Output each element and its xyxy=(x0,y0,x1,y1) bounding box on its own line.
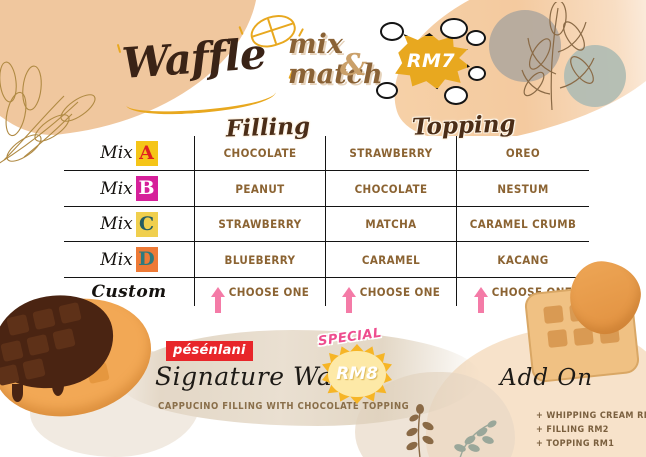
filling-cell: STRAWBERRY xyxy=(195,206,326,242)
sprig-decoration-icon xyxy=(398,402,508,457)
addon-list: + WHIPPING CREAM RM2 + FILLING RM2 + TOP… xyxy=(496,411,646,453)
topping-column-header: Topping xyxy=(412,110,516,141)
puff-cloud-icon xyxy=(440,18,468,39)
up-arrow-icon xyxy=(474,287,488,297)
brand-title: Waffle xyxy=(120,29,267,88)
custom-topping-cell-1[interactable]: CHOOSE ONE xyxy=(326,277,457,306)
table-row[interactable]: Mix C STRAWBERRY MATCHA CARAMEL CRUMB xyxy=(64,206,589,242)
chocolate-drip xyxy=(12,384,23,402)
topping-cell-1: STRAWBERRY xyxy=(326,136,457,171)
puff-cloud-icon xyxy=(380,22,404,41)
mix-label: Mix xyxy=(100,214,132,234)
waffle-menu-poster: Waffle mix match & RM7 Mix A xyxy=(0,0,646,457)
brand-tag: pésénlani xyxy=(166,341,253,361)
caramel-waffle-illustration xyxy=(522,258,642,380)
waffle-pocket xyxy=(543,305,564,324)
puff-cloud-icon xyxy=(468,66,486,81)
ampersand-symbol: & xyxy=(340,48,367,83)
table-row[interactable]: Mix D BLUEBERRY CARAMEL KACANG xyxy=(64,242,589,278)
topping-cell-1: CARAMEL xyxy=(326,242,457,278)
choose-one-label: CHOOSE ONE xyxy=(229,285,309,299)
mix-label: Mix xyxy=(100,179,132,199)
mix-badge-d: D xyxy=(136,247,158,272)
waffle-pocket xyxy=(547,329,568,348)
topping-cell-2: NESTUM xyxy=(457,171,590,207)
price-burst-badge: RM7 xyxy=(392,33,470,91)
up-arrow-icon xyxy=(342,287,356,297)
addon-title: Add On xyxy=(500,365,593,391)
puff-cloud-icon xyxy=(444,86,468,105)
chocolate-drip xyxy=(52,374,64,396)
up-arrow-icon xyxy=(211,287,225,297)
topping-cell-1: CHOCOLATE xyxy=(326,171,457,207)
row-label-cell: Mix D xyxy=(64,242,195,278)
chocolate-drip xyxy=(88,340,101,366)
row-label-cell: Mix C xyxy=(64,206,195,242)
chocolate-waffle-illustration xyxy=(0,300,152,415)
mix-match-table-wrapper: Mix A CHOCOLATE STRAWBERRY OREO Mix B PE… xyxy=(64,136,578,306)
filling-cell: BLUEBERRY xyxy=(195,242,326,278)
match-word: match xyxy=(288,59,383,90)
row-label-cell: Mix B xyxy=(64,171,195,207)
custom-filling-cell[interactable]: CHOOSE ONE xyxy=(195,277,326,306)
topping-cell-2: OREO xyxy=(457,136,590,171)
topping-cell-1: MATCHA xyxy=(326,206,457,242)
mix-word: mix xyxy=(288,29,343,60)
special-price-burst: RM8 xyxy=(322,344,392,404)
row-label-cell: Mix A xyxy=(64,136,195,171)
poster-header: Waffle mix match & RM7 xyxy=(0,0,646,120)
puff-cloud-icon xyxy=(466,30,486,46)
addon-item: + FILLING RM2 xyxy=(536,425,646,435)
mix-badge-c: C xyxy=(136,212,158,237)
table-row[interactable]: Mix A CHOCOLATE STRAWBERRY OREO xyxy=(64,136,589,171)
choose-one-label: CHOOSE ONE xyxy=(360,285,440,299)
mix-label: Mix xyxy=(100,143,132,163)
topping-cell-2: CARAMEL CRUMB xyxy=(457,206,590,242)
addon-item: + WHIPPING CREAM RM2 xyxy=(536,411,646,421)
custom-label: Custom xyxy=(91,282,166,302)
mix-badge-a: A xyxy=(136,141,158,166)
mix-label: Mix xyxy=(100,250,132,270)
price-badge-label: RM7 xyxy=(392,33,470,91)
mix-match-table: Mix A CHOCOLATE STRAWBERRY OREO Mix B PE… xyxy=(64,136,589,306)
table-row[interactable]: Mix B PEANUT CHOCOLATE NESTUM xyxy=(64,171,589,207)
addon-item: + TOPPING RM1 xyxy=(536,439,646,449)
filling-column-header: Filling xyxy=(226,113,311,143)
special-price-label: RM8 xyxy=(322,344,392,404)
filling-cell: PEANUT xyxy=(195,171,326,207)
mix-badge-b: B xyxy=(136,176,158,201)
puff-cloud-icon xyxy=(376,82,398,99)
